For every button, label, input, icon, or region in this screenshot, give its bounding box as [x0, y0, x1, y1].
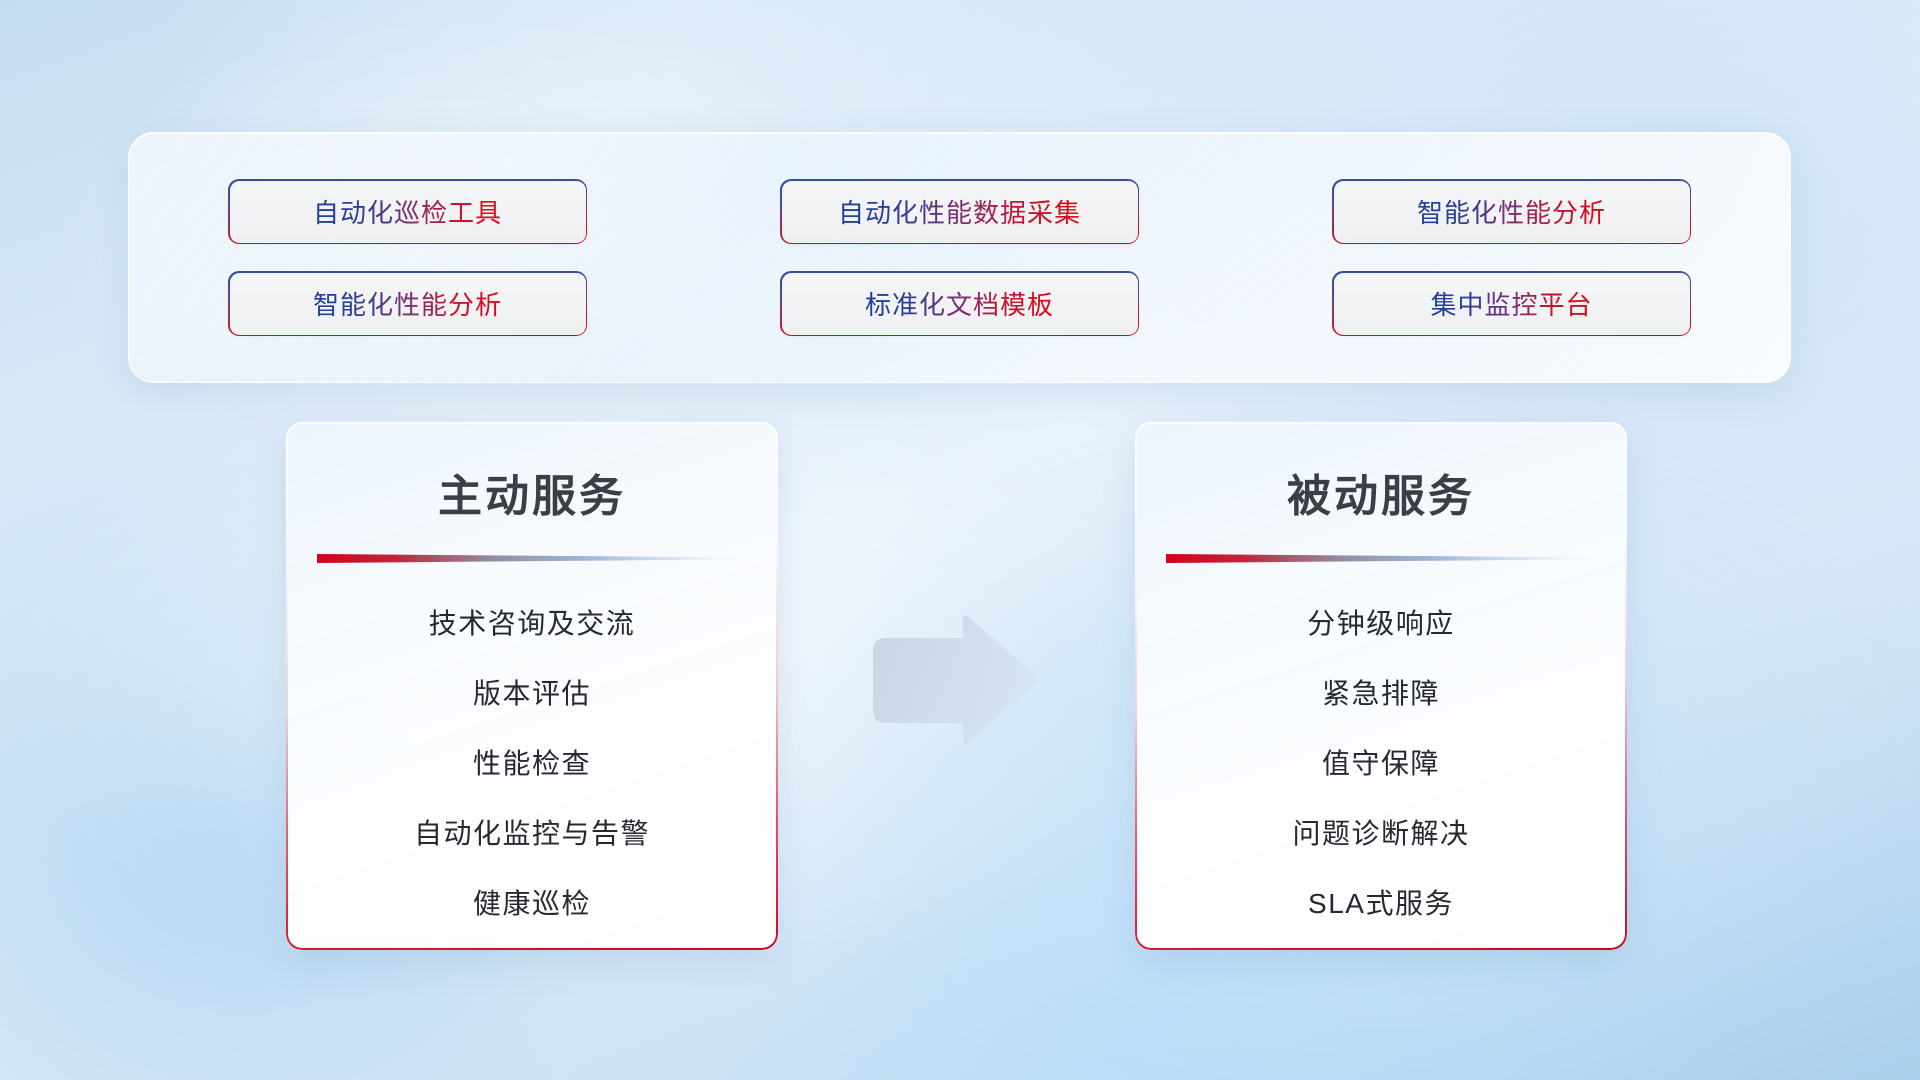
card-list-item[interactable]: 紧急排障	[1135, 659, 1627, 729]
capability-pill-grid: 自动化巡检工具 自动化性能数据采集 智能化性能分析 智能化性能分析 标准化文档模…	[230, 181, 1690, 335]
card-divider	[317, 554, 747, 563]
card-list-item[interactable]: 技术咨询及交流	[286, 589, 778, 659]
card-list-item[interactable]: 值守保障	[1135, 729, 1627, 799]
capability-pill-label: 自动化巡检工具	[313, 193, 502, 230]
arrow-right-icon	[869, 613, 1039, 748]
card-list-item[interactable]: 分钟级响应	[1135, 589, 1627, 659]
card-list-item[interactable]: 性能检查	[286, 729, 778, 799]
service-card-passive: 被动服务 分钟级响应 紧急排障 值守保障 问题诊断解决 SLA式服务	[1135, 422, 1627, 950]
card-item-list: 技术咨询及交流 版本评估 性能检查 自动化监控与告警 健康巡检	[286, 589, 778, 939]
card-list-item[interactable]: SLA式服务	[1135, 869, 1627, 939]
capability-pill-label: 智能化性能分析	[1417, 193, 1606, 230]
card-list-item[interactable]: 问题诊断解决	[1135, 799, 1627, 869]
card-title: 主动服务	[286, 460, 778, 524]
card-item-list: 分钟级响应 紧急排障 值守保障 问题诊断解决 SLA式服务	[1135, 589, 1627, 939]
capability-pill-label: 标准化文档模板	[865, 285, 1054, 322]
capability-pill-label: 集中监控平台	[1430, 285, 1592, 322]
capability-pill[interactable]: 自动化巡检工具	[230, 181, 586, 243]
card-list-item[interactable]: 健康巡检	[286, 869, 778, 939]
capability-pill[interactable]: 标准化文档模板	[782, 273, 1138, 335]
service-card-active: 主动服务 技术咨询及交流 版本评估 性能检查 自动化监控与告警 健康巡检	[286, 422, 778, 950]
capability-pill[interactable]: 智能化性能分析	[1334, 181, 1690, 243]
capability-pill-label: 自动化性能数据采集	[838, 193, 1081, 230]
capability-pill[interactable]: 自动化性能数据采集	[782, 181, 1138, 243]
capability-pill[interactable]: 智能化性能分析	[230, 273, 586, 335]
card-divider	[1166, 554, 1596, 563]
card-list-item[interactable]: 版本评估	[286, 659, 778, 729]
capability-pill-label: 智能化性能分析	[313, 285, 502, 322]
capability-panel: 自动化巡检工具 自动化性能数据采集 智能化性能分析 智能化性能分析 标准化文档模…	[128, 132, 1791, 383]
capability-pill[interactable]: 集中监控平台	[1334, 273, 1690, 335]
card-list-item[interactable]: 自动化监控与告警	[286, 799, 778, 869]
card-title: 被动服务	[1135, 460, 1627, 524]
